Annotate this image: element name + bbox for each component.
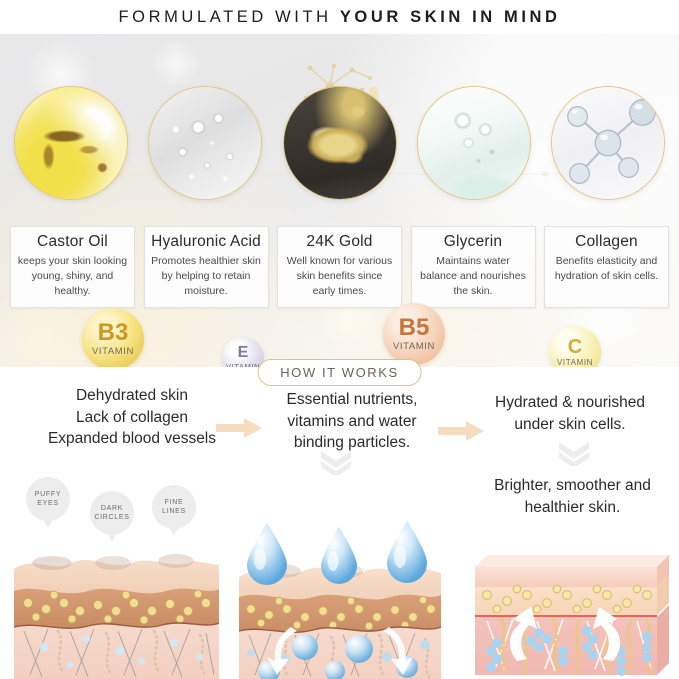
bokeh-decoration [150, 38, 202, 90]
ingredient-image-glycerin [417, 86, 531, 200]
ingredient-image-hyaluronic-acid [148, 86, 262, 200]
concern-line-2: EYES [37, 499, 58, 508]
concern-bubble-puffy-eyes: PUFFY EYES [26, 477, 70, 521]
ingredient-cards-row: Castor Oil keeps your skin looking young… [0, 226, 679, 308]
ingredient-card-24k-gold: 24K Gold Well known for various skin ben… [277, 226, 402, 308]
vitamin-badge-e: E VITAMIN [222, 337, 264, 367]
arrow-right-icon [216, 417, 262, 439]
ingredient-description: Benefits elasticity and hydration of ski… [551, 254, 662, 284]
concern-line-2: LINES [162, 507, 186, 516]
collagen-molecule-icon [552, 87, 664, 199]
castor-oil-icon [15, 87, 127, 199]
ingredient-card-hyaluronic-acid: Hyaluronic Acid Promotes healthier skin … [144, 226, 269, 308]
step-3-text: Hydrated & nourished under skin cells. [470, 392, 670, 435]
concern-line-2: CIRCLES [94, 513, 129, 522]
skin-diagram-absorbing [239, 519, 441, 679]
ingredient-card-glycerin: Glycerin Maintains water balance and nou… [411, 226, 536, 308]
step-1-line-2: Lack of collagen [22, 407, 242, 429]
ingredient-image-castor-oil [14, 86, 128, 200]
ingredient-name: Glycerin [418, 233, 529, 251]
ingredient-description: keeps your skin looking young, shiny, an… [17, 254, 128, 299]
step-2-line-1: Essential nutrients, [262, 389, 442, 411]
glycerin-gel-icon [418, 87, 530, 199]
result-text: Brighter, smoother and healthier skin. [470, 475, 675, 518]
ingredient-name: 24K Gold [284, 233, 395, 251]
hyaluronic-acid-icon [149, 87, 261, 199]
vitamin-letter: B3 [98, 321, 129, 345]
concern-bubble-dark-circles: DARK CIRCLES [90, 491, 134, 535]
header-banner: FORMULATED WITH YOUR SKIN IN MIND [0, 0, 679, 34]
page-title-bold: YOUR SKIN IN MIND [340, 8, 561, 26]
ingredient-name: Collagen [551, 233, 662, 251]
how-it-works-badge: HOW IT WORKS [257, 359, 422, 386]
page-title-light: FORMULATED WITH [118, 8, 339, 26]
step-3-line-1: Hydrated & nourished [470, 392, 670, 414]
vitamin-badge-c: C VITAMIN [549, 326, 601, 367]
vitamin-badge-b5: B5 VITAMIN [383, 303, 445, 365]
result-line-1: Brighter, smoother and [470, 475, 675, 497]
ingredient-image-collagen [551, 86, 665, 200]
ingredient-description: Promotes healthier skin by helping to re… [151, 254, 262, 299]
ingredient-images-row [0, 86, 679, 200]
gold-nugget-icon [284, 87, 396, 199]
how-it-works-section: Dehydrated skin Lack of collagen Expande… [0, 367, 679, 679]
skin-diagram-dehydrated [14, 539, 219, 679]
ingredient-image-24k-gold [283, 86, 397, 200]
chevron-down-double-icon [319, 449, 353, 475]
result-line-2: healthier skin. [470, 497, 675, 519]
concern-line-1: FINE [165, 498, 184, 507]
concern-bubble-fine-lines: FINE LINES [152, 485, 196, 529]
concern-line-1: PUFFY [35, 490, 61, 499]
vitamin-letter: B5 [399, 316, 430, 340]
vitamin-letter: E [238, 345, 249, 361]
vitamin-label: VITAMIN [92, 347, 134, 357]
vitamin-label: VITAMIN [393, 342, 435, 352]
ingredients-panel: Castor Oil keeps your skin looking young… [0, 34, 679, 367]
step-2-line-2: vitamins and water [262, 411, 442, 433]
ingredient-description: Well known for various skin benefits sin… [284, 254, 395, 299]
step-3-line-2: under skin cells. [470, 414, 670, 436]
step-2-text: Essential nutrients, vitamins and water … [262, 389, 442, 454]
vitamin-badge-b3: B3 VITAMIN [82, 308, 144, 367]
chevron-down-double-icon [557, 440, 591, 466]
step-1-line-3: Expanded blood vessels [22, 428, 242, 450]
concern-line-1: DARK [101, 504, 123, 513]
ingredient-card-collagen: Collagen Benefits elasticity and hydrati… [544, 226, 669, 308]
page-title: FORMULATED WITH YOUR SKIN IN MIND [118, 8, 560, 27]
ingredient-name: Hyaluronic Acid [151, 233, 262, 251]
ingredient-name: Castor Oil [17, 233, 128, 251]
step-1-line-1: Dehydrated skin [22, 385, 242, 407]
ingredient-description: Maintains water balance and nourishes th… [418, 254, 529, 299]
ingredient-card-castor-oil: Castor Oil keeps your skin looking young… [10, 226, 135, 308]
step-1-text: Dehydrated skin Lack of collagen Expande… [22, 385, 242, 450]
vitamin-letter: C [568, 337, 582, 357]
skin-diagram-hydrated [461, 545, 669, 679]
vitamin-label: VITAMIN [557, 359, 593, 367]
